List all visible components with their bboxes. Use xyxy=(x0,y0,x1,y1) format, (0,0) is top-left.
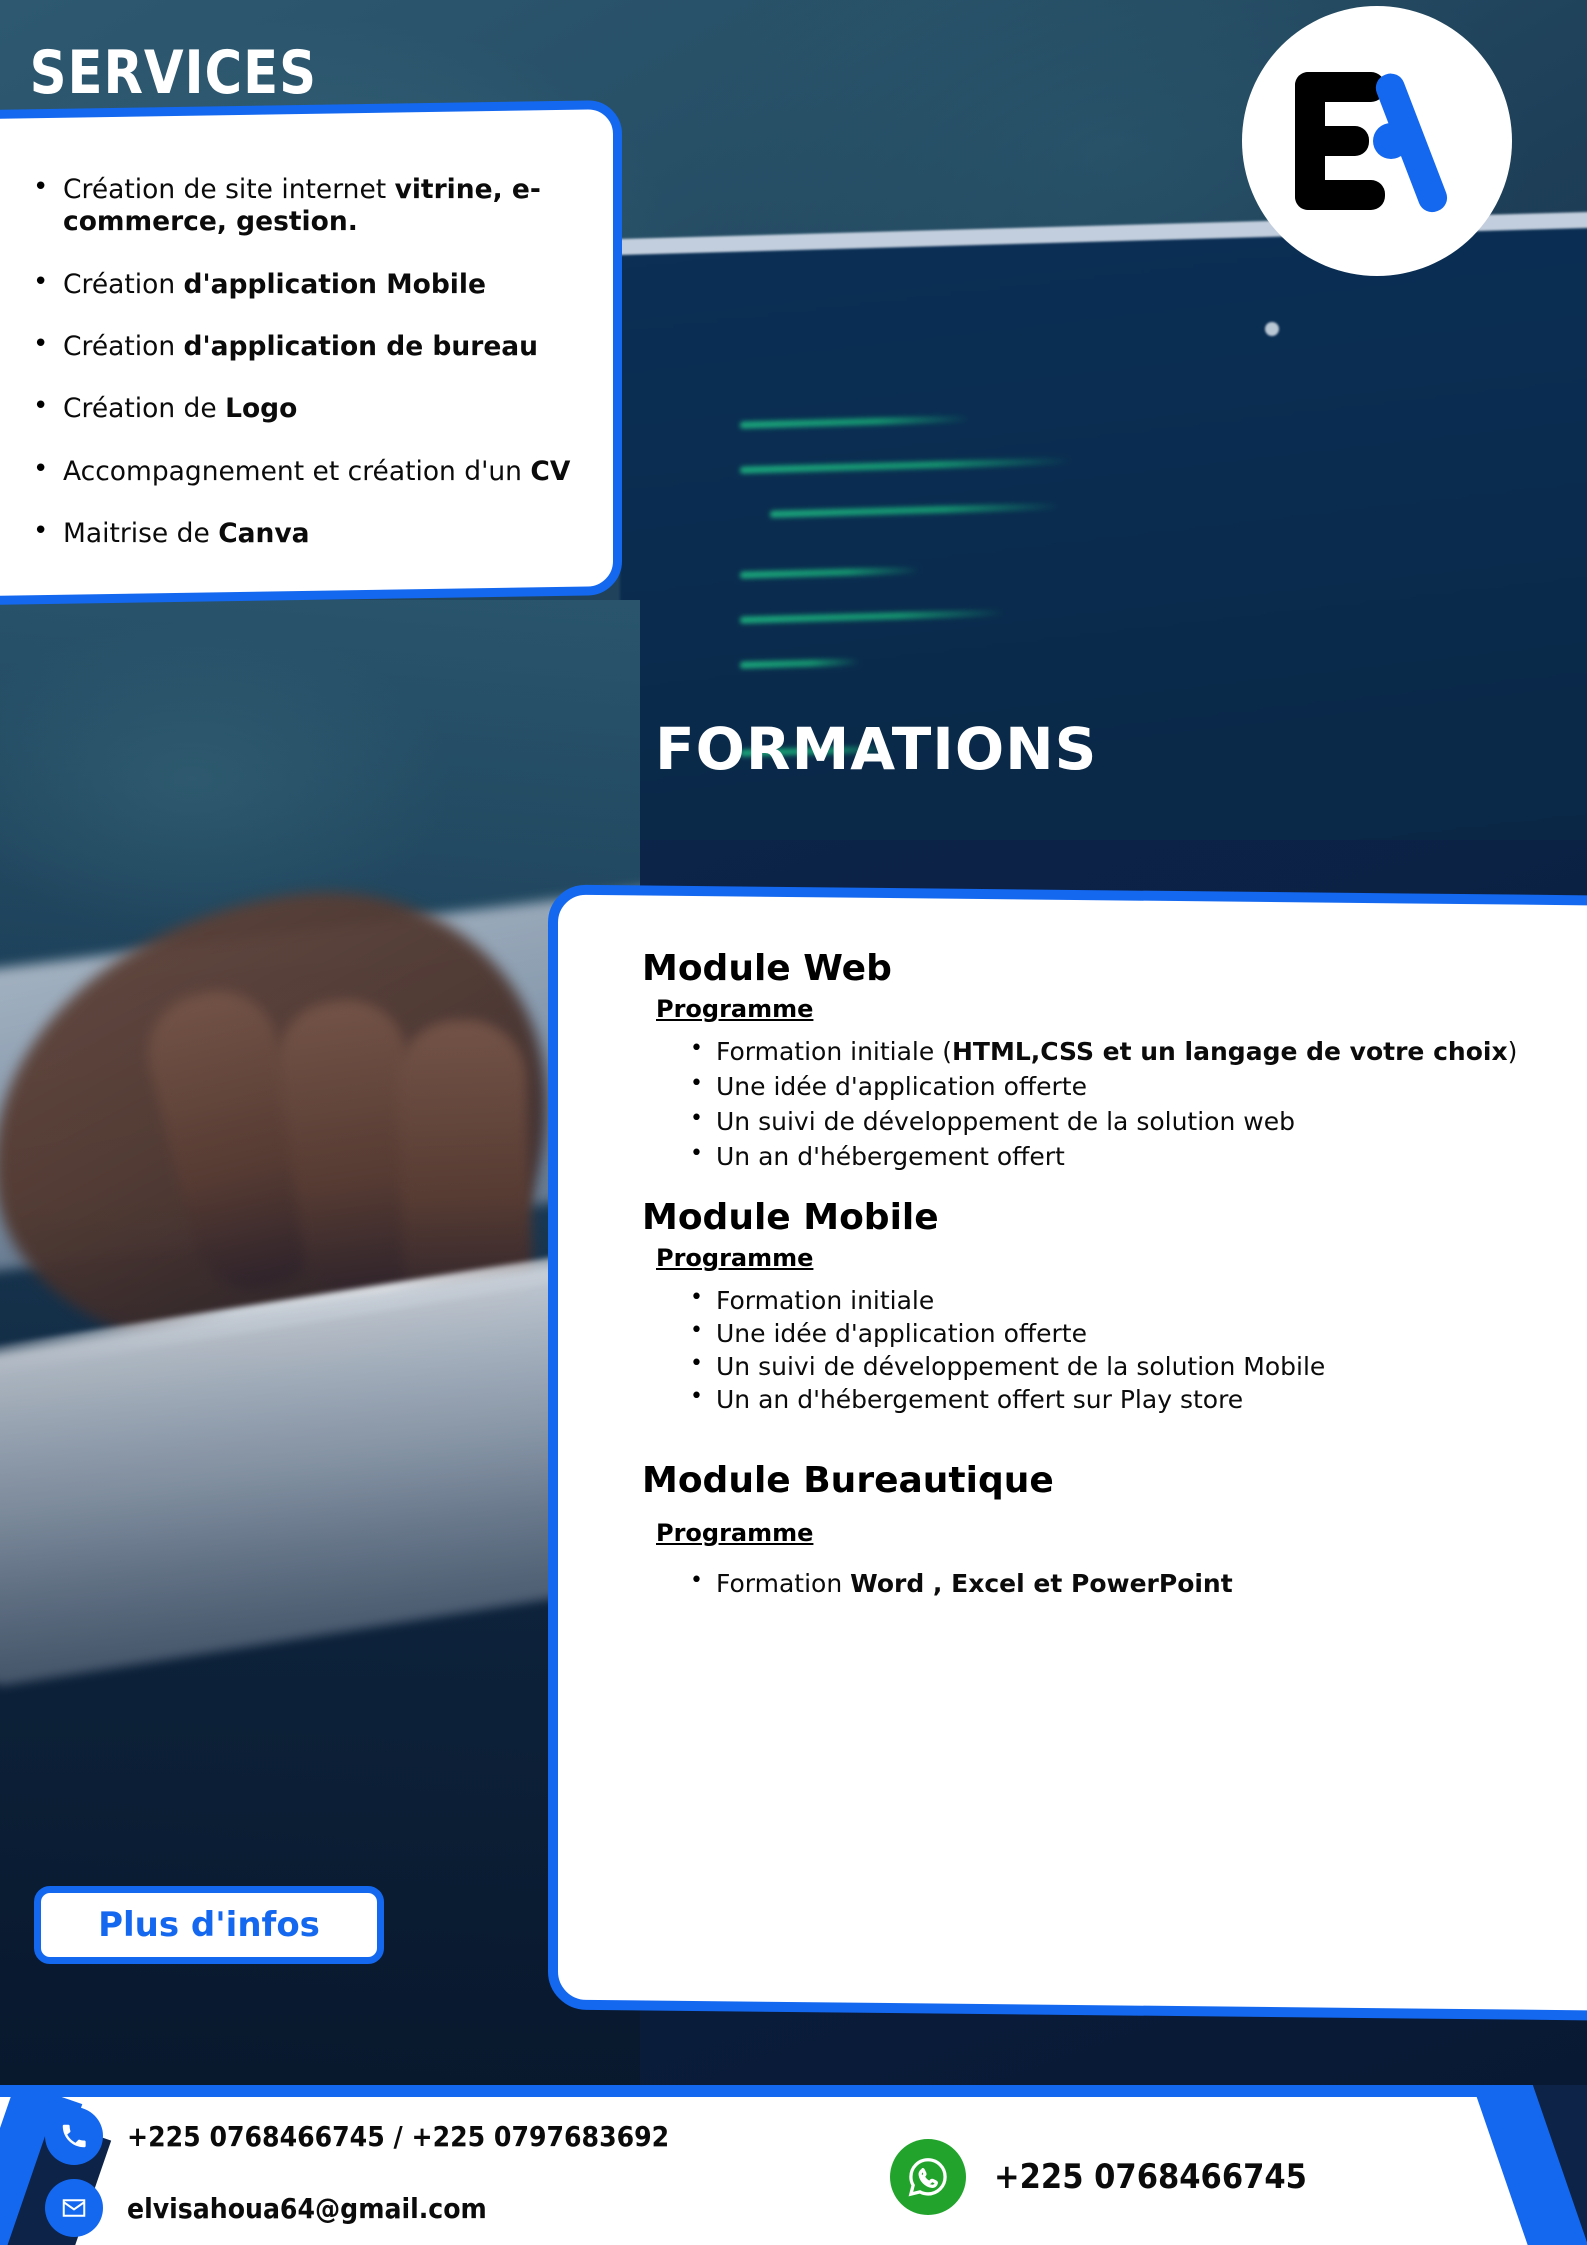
list-item: Création de site internet vitrine, e-com… xyxy=(15,174,589,239)
service-emphasis: d'application Mobile xyxy=(184,269,486,300)
service-emphasis: d'application de bureau xyxy=(184,331,539,362)
list-item: Formation Word , Excel et PowerPoint xyxy=(686,1567,1558,1600)
service-text: Création de xyxy=(63,393,225,424)
poster-canvas: SERVICES Création de site internet vitri… xyxy=(0,0,1587,2245)
services-title: SERVICES xyxy=(30,38,317,108)
background-hands-laptop-photo xyxy=(0,600,640,2090)
plus-dinfos-button[interactable]: Plus d'infos xyxy=(34,1886,384,1964)
item-text: Formation initiale ( xyxy=(716,1037,952,1066)
module-web: Module Web Programme Formation initiale … xyxy=(628,948,1558,1173)
item-text: Une idée d'application offerte xyxy=(716,1319,1087,1348)
service-text: Accompagnement et création d'un xyxy=(63,456,530,487)
list-item: Un suivi de développement de la solution… xyxy=(686,1350,1558,1383)
service-text: Maitrise de xyxy=(63,518,218,549)
module-web-list: Formation initiale (HTML,CSS et un langa… xyxy=(686,1035,1558,1173)
item-emphasis: Word , Excel et PowerPoint xyxy=(850,1569,1233,1598)
programme-label: Programme xyxy=(656,1244,813,1272)
phone-numbers: +225 0768466745 / +225 0797683692 xyxy=(127,2120,669,2153)
list-item: Accompagnement et création d'un CV xyxy=(15,456,589,488)
whatsapp-row[interactable]: +225 0768466745 xyxy=(890,2139,1307,2215)
item-text: Un suivi de développement de la solution… xyxy=(716,1352,1325,1381)
footer-accent-bar xyxy=(0,2085,1587,2097)
module-mobile-list: Formation initiale Une idée d'applicatio… xyxy=(686,1284,1558,1416)
module-bureautique-list: Formation Word , Excel et PowerPoint xyxy=(686,1567,1558,1600)
plus-dinfos-label: Plus d'infos xyxy=(98,1905,320,1945)
footer: +225 0768466745 / +225 0797683692 elvisa… xyxy=(0,2085,1587,2245)
module-title: Module Web xyxy=(628,948,1558,989)
contact-column: +225 0768466745 / +225 0797683692 elvisa… xyxy=(45,2107,669,2245)
phone-icon xyxy=(45,2107,103,2165)
list-item: Un an d'hébergement offert xyxy=(686,1140,1558,1173)
item-text: Un an d'hébergement offert xyxy=(716,1142,1065,1171)
list-item: Un an d'hébergement offert sur Play stor… xyxy=(686,1383,1558,1416)
service-text: Création de site internet xyxy=(63,174,395,205)
ea-logo-icon xyxy=(1287,66,1467,216)
item-text: Un suivi de développement de la solution… xyxy=(716,1107,1295,1136)
list-item: Création d'application de bureau xyxy=(15,331,589,363)
whatsapp-number: +225 0768466745 xyxy=(994,2157,1307,2197)
item-emphasis: HTML,CSS et un langage de votre choix xyxy=(952,1037,1508,1066)
services-list: Création de site internet vitrine, e-com… xyxy=(15,174,589,550)
formations-title: FORMATIONS xyxy=(655,715,1097,783)
module-title: Module Mobile xyxy=(628,1197,1558,1238)
item-text: Un an d'hébergement offert sur Play stor… xyxy=(716,1385,1243,1414)
programme-label: Programme xyxy=(656,1519,813,1547)
service-emphasis: Logo xyxy=(225,393,297,424)
list-item: Une idée d'application offerte xyxy=(686,1070,1558,1103)
webcam-dot xyxy=(1265,322,1279,336)
phone-row[interactable]: +225 0768466745 / +225 0797683692 xyxy=(45,2107,669,2165)
mail-icon xyxy=(45,2179,103,2237)
item-text-after: ) xyxy=(1508,1037,1518,1066)
service-text: Création xyxy=(63,269,184,300)
list-item: Un suivi de développement de la solution… xyxy=(686,1105,1558,1138)
whatsapp-icon xyxy=(890,2139,966,2215)
service-emphasis: Canva xyxy=(218,518,309,549)
service-emphasis: CV xyxy=(530,456,570,487)
list-item: Création de Logo xyxy=(15,393,589,425)
list-item: Formation initiale xyxy=(686,1284,1558,1317)
services-card: Création de site internet vitrine, e-com… xyxy=(0,100,622,605)
item-text: Formation xyxy=(716,1569,850,1598)
email-address: elvisahoua64@gmail.com xyxy=(127,2192,487,2225)
list-item: Une idée d'application offerte xyxy=(686,1317,1558,1350)
module-mobile: Module Mobile Programme Formation initia… xyxy=(628,1197,1558,1416)
service-text: Création xyxy=(63,331,184,362)
list-item: Maitrise de Canva xyxy=(15,518,589,550)
logo-badge xyxy=(1242,6,1512,276)
module-bureautique: Module Bureautique Programme Formation W… xyxy=(628,1460,1558,1600)
module-title: Module Bureautique xyxy=(628,1460,1558,1501)
email-row[interactable]: elvisahoua64@gmail.com xyxy=(45,2179,669,2237)
list-item: Formation initiale (HTML,CSS et un langa… xyxy=(686,1035,1558,1068)
list-item: Création d'application Mobile xyxy=(15,269,589,301)
item-text: Une idée d'application offerte xyxy=(716,1072,1087,1101)
programme-label: Programme xyxy=(656,995,813,1023)
footer-right-decoration xyxy=(1397,2085,1587,2245)
formations-card: Module Web Programme Formation initiale … xyxy=(548,884,1587,2020)
item-text: Formation initiale xyxy=(716,1286,934,1315)
